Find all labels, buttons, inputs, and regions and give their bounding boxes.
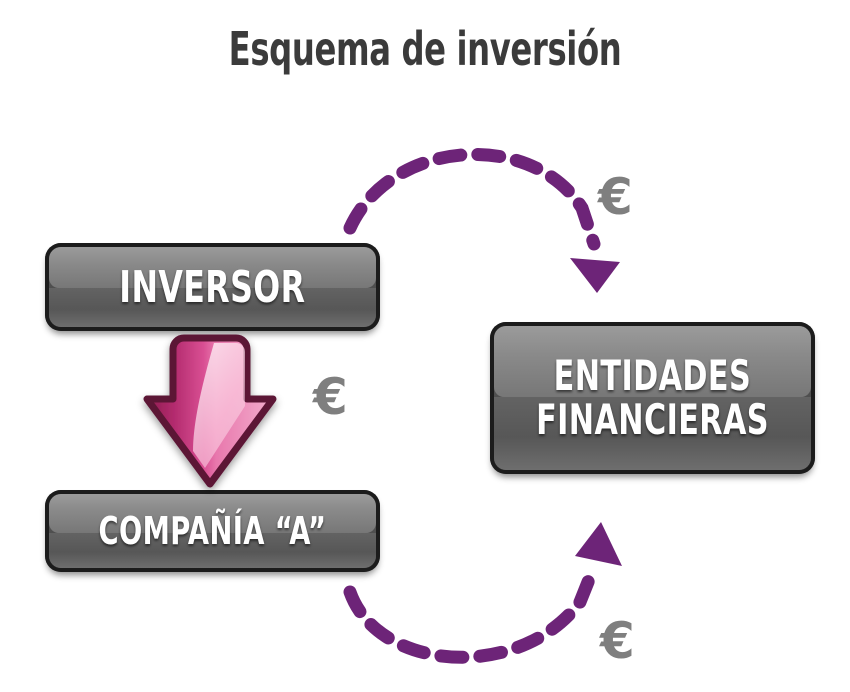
pink-down-arrow <box>147 338 273 484</box>
pink-arrow-gloss <box>193 343 245 468</box>
euro-icon-center: € <box>313 372 348 422</box>
node-entidades-line-2: FINANCIERAS <box>536 398 769 442</box>
euro-icon-bottom-right: € <box>600 616 635 666</box>
dashed-curve-top <box>350 154 594 244</box>
node-inversor[interactable]: INVERSOR <box>45 243 380 331</box>
node-inversor-line-1: INVERSOR <box>119 262 305 313</box>
dashed-curve-bottom <box>350 572 592 657</box>
page-title: Esquema de inversión <box>94 22 757 76</box>
connector-compania-to-entidades <box>350 522 622 657</box>
node-inversor-label: INVERSOR <box>45 243 380 331</box>
connector-inversor-to-entidades <box>350 154 620 293</box>
arrowhead-top-right <box>570 258 620 293</box>
node-entidades-financieras[interactable]: ENTIDADES FINANCIERAS <box>490 322 815 474</box>
node-compania[interactable]: COMPAÑÍA “A” <box>45 490 380 572</box>
diagram-canvas: Esquema de inversión INVERSOR COMPAÑÍA “… <box>0 0 850 692</box>
node-compania-label: COMPAÑÍA “A” <box>45 490 380 572</box>
arrowhead-bottom-right <box>575 522 622 566</box>
node-entidades-label: ENTIDADES FINANCIERAS <box>490 322 815 474</box>
connector-inversor-to-compania <box>147 338 273 484</box>
node-compania-line-1: COMPAÑÍA “A” <box>99 509 327 553</box>
euro-icon-top-right: € <box>598 172 633 222</box>
node-entidades-line-1: ENTIDADES <box>554 354 751 398</box>
